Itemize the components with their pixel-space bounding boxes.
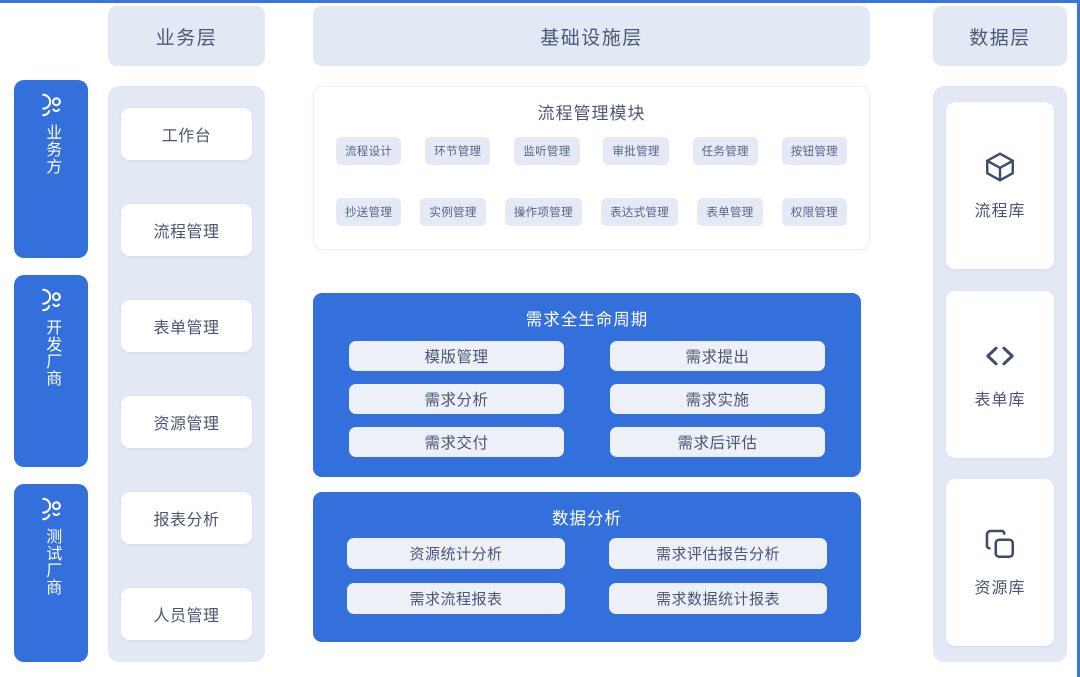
analytics-item-requirement-data-report[interactable]: 需求数据统计报表 — [609, 583, 827, 614]
process-tag-row-2: 抄送管理 实例管理 操作项管理 表达式管理 表单管理 权限管理 — [314, 198, 869, 226]
business-item-workbench[interactable]: 工作台 — [121, 108, 252, 160]
role-label: 开发厂商 — [41, 319, 61, 387]
data-card-label: 流程库 — [974, 197, 1025, 221]
infrastructure-layer-header: 基础设施层 — [313, 6, 870, 66]
process-tag-flow-design[interactable]: 流程设计 — [336, 137, 401, 165]
process-management-module-panel: 流程管理模块 流程设计 环节管理 监听管理 审批管理 任务管理 按钮管理 抄送管… — [313, 86, 870, 250]
role-badge-developer[interactable]: 开发厂商 — [14, 275, 88, 467]
lifecycle-item-requirement-analysis[interactable]: 需求分析 — [349, 384, 564, 414]
data-layer-column: 流程库 表单库 资源库 — [933, 86, 1067, 662]
data-card-label: 资源库 — [974, 574, 1025, 598]
lifecycle-items-grid: 模版管理 需求提出 需求分析 需求实施 需求交付 需求后评估 — [313, 330, 861, 457]
process-tag-row-1: 流程设计 环节管理 监听管理 审批管理 任务管理 按钮管理 — [314, 137, 869, 165]
lifecycle-item-requirement-delivery[interactable]: 需求交付 — [349, 427, 564, 457]
data-card-process-repository[interactable]: 流程库 — [946, 102, 1054, 269]
lifecycle-item-requirement-raise[interactable]: 需求提出 — [610, 341, 825, 371]
business-item-resource-mgmt[interactable]: 资源管理 — [121, 396, 252, 448]
code-brackets-icon — [983, 339, 1017, 373]
process-tag-cc-mgmt[interactable]: 抄送管理 — [336, 198, 401, 226]
business-item-form-mgmt[interactable]: 表单管理 — [121, 300, 252, 352]
business-layer-header: 业务层 — [108, 6, 265, 66]
process-tag-approval-mgmt[interactable]: 审批管理 — [603, 137, 668, 165]
process-tag-listener-mgmt[interactable]: 监听管理 — [514, 137, 579, 165]
lifecycle-item-post-evaluation[interactable]: 需求后评估 — [610, 427, 825, 457]
analytics-items-grid: 资源统计分析 需求评估报告分析 需求流程报表 需求数据统计报表 — [313, 529, 861, 614]
business-item-personnel-mgmt[interactable]: 人员管理 — [121, 588, 252, 640]
process-tag-form-mgmt[interactable]: 表单管理 — [697, 198, 762, 226]
process-tag-instance-mgmt[interactable]: 实例管理 — [420, 198, 485, 226]
process-tag-node-mgmt[interactable]: 环节管理 — [425, 137, 490, 165]
users-icon — [38, 496, 64, 522]
users-icon — [38, 92, 64, 118]
process-tag-expression-mgmt[interactable]: 表达式管理 — [601, 198, 678, 226]
role-label: 测试厂商 — [41, 528, 61, 596]
requirement-lifecycle-panel: 需求全生命周期 模版管理 需求提出 需求分析 需求实施 需求交付 需求后评估 — [313, 293, 861, 477]
business-layer-column: 工作台 流程管理 表单管理 资源管理 报表分析 人员管理 — [108, 86, 265, 662]
process-tag-task-mgmt[interactable]: 任务管理 — [693, 137, 758, 165]
data-layer-header: 数据层 — [933, 6, 1067, 66]
roles-column: 业务方 开发厂商 测试厂商 — [14, 80, 88, 662]
users-icon — [38, 287, 64, 313]
cube-icon — [983, 150, 1017, 184]
data-analytics-panel: 数据分析 资源统计分析 需求评估报告分析 需求流程报表 需求数据统计报表 — [313, 492, 861, 642]
data-card-form-repository[interactable]: 表单库 — [946, 291, 1054, 458]
business-item-process-mgmt[interactable]: 流程管理 — [121, 204, 252, 256]
business-item-report-analysis[interactable]: 报表分析 — [121, 492, 252, 544]
role-label: 业务方 — [41, 124, 61, 175]
top-border-rule — [0, 0, 1080, 3]
analytics-item-resource-statistics[interactable]: 资源统计分析 — [347, 538, 565, 569]
infrastructure-layer-column: 流程管理模块 流程设计 环节管理 监听管理 审批管理 任务管理 按钮管理 抄送管… — [313, 86, 870, 662]
role-badge-tester[interactable]: 测试厂商 — [14, 484, 88, 662]
process-tag-button-mgmt[interactable]: 按钮管理 — [782, 137, 847, 165]
copy-stack-icon — [983, 527, 1017, 561]
role-badge-business[interactable]: 业务方 — [14, 80, 88, 258]
lifecycle-title: 需求全生命周期 — [313, 306, 861, 330]
architecture-diagram: 业务方 开发厂商 测试厂商 业务层 基础设施层 数据层 工作台 — [0, 0, 1080, 677]
analytics-title: 数据分析 — [313, 505, 861, 529]
process-tag-operation-mgmt[interactable]: 操作项管理 — [505, 198, 582, 226]
data-card-label: 表单库 — [974, 386, 1025, 410]
process-module-title: 流程管理模块 — [314, 99, 869, 124]
lifecycle-item-requirement-implementation[interactable]: 需求实施 — [610, 384, 825, 414]
analytics-item-requirement-process-report[interactable]: 需求流程报表 — [347, 583, 565, 614]
lifecycle-item-template-mgmt[interactable]: 模版管理 — [349, 341, 564, 371]
data-card-resource-repository[interactable]: 资源库 — [946, 479, 1054, 646]
process-tag-permission-mgmt[interactable]: 权限管理 — [782, 198, 847, 226]
analytics-item-requirement-evaluation-report[interactable]: 需求评估报告分析 — [609, 538, 827, 569]
